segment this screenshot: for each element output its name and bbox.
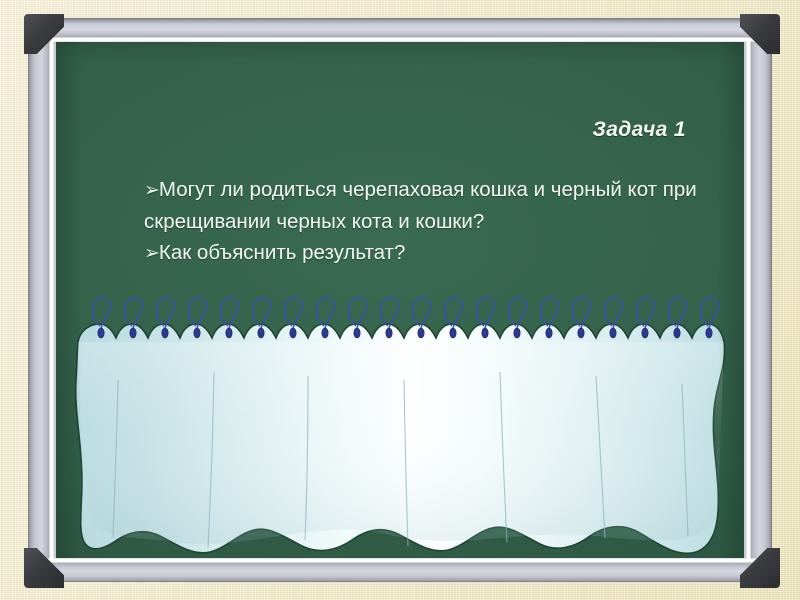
whiteboard-frame: Задача 1 ➢Могут ли родиться черепаховая … xyxy=(28,18,772,582)
curtain-fold-lines xyxy=(113,372,688,548)
body-text-block: ➢Могут ли родиться черепаховая кошка и ч… xyxy=(144,174,704,269)
bullet-item: ➢Могут ли родиться черепаховая кошка и ч… xyxy=(144,174,704,237)
bullet-item-text: Могут ли родиться черепаховая кошка и че… xyxy=(144,178,697,233)
slide-canvas: Задача 1 ➢Могут ли родиться черепаховая … xyxy=(0,0,800,600)
chalkboard-surface: Задача 1 ➢Могут ли родиться черепаховая … xyxy=(56,42,744,558)
bullet-item-text: Как объяснить результат? xyxy=(159,241,405,264)
curtain-svg xyxy=(56,280,744,558)
curtain-sheen xyxy=(78,342,724,544)
bullet-item: ➢Как объяснить результат? xyxy=(144,237,704,269)
curtain-ring-icon-group xyxy=(93,298,718,338)
drape-curtain xyxy=(56,280,744,558)
page-title: Задача 1 xyxy=(592,118,686,142)
arrow-bullet-icon: ➢ xyxy=(144,243,160,264)
arrow-bullet-icon: ➢ xyxy=(144,180,160,201)
curtain-body xyxy=(76,324,725,553)
